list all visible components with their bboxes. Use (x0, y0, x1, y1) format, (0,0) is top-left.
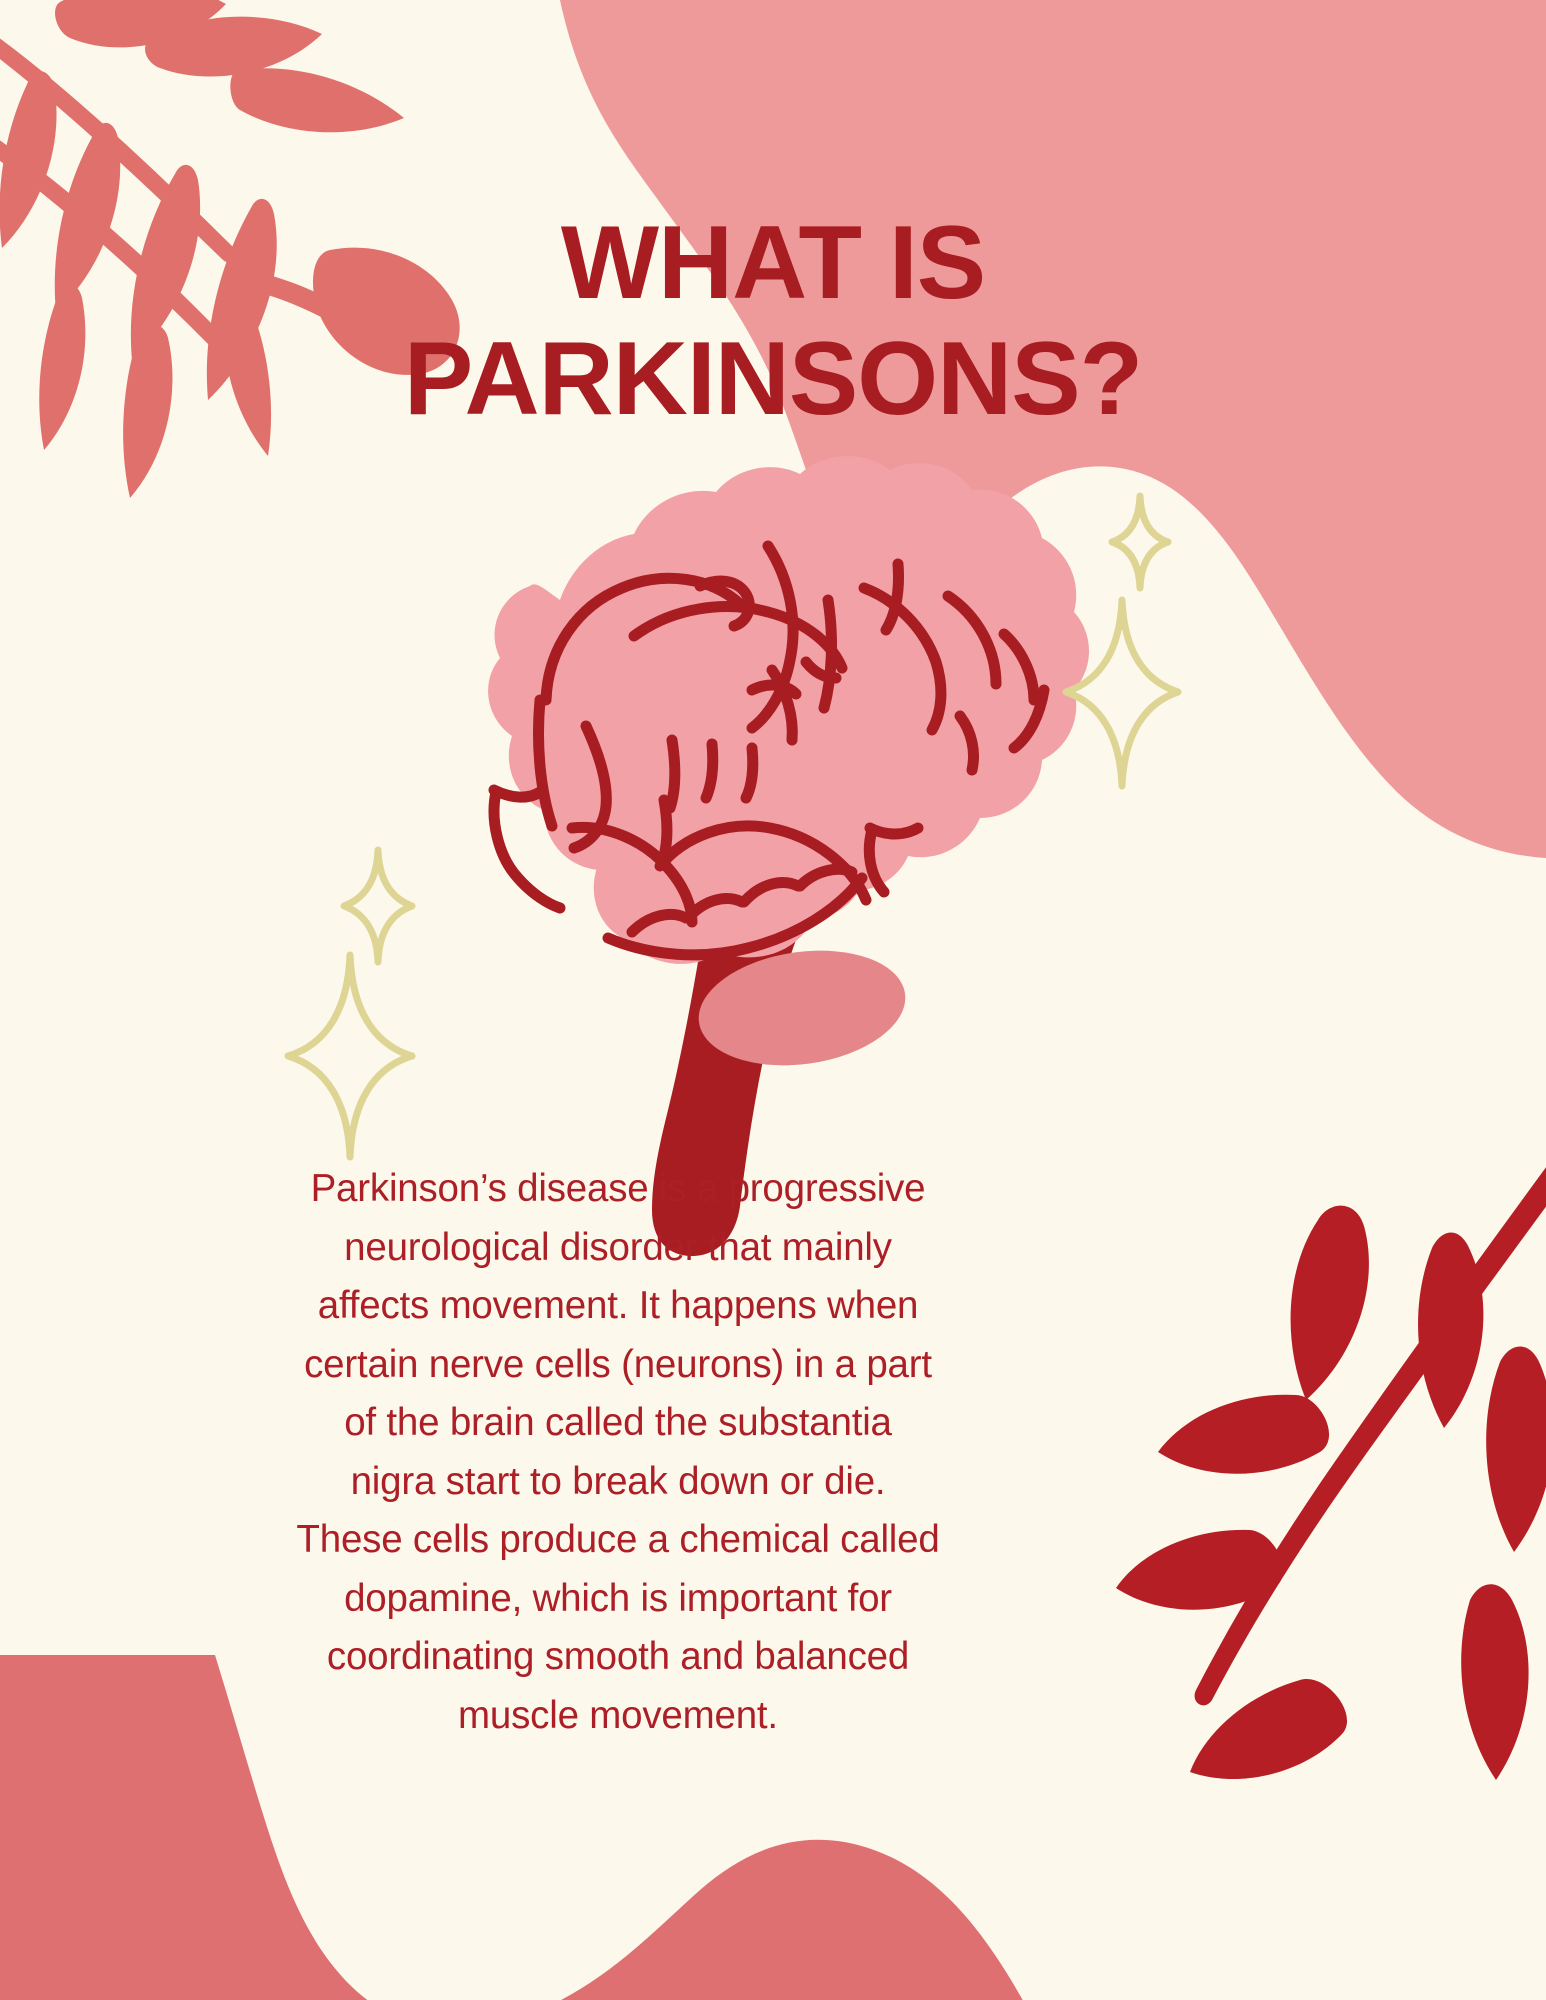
page-title: WHAT IS PARKINSONS? (0, 205, 1546, 438)
title-line-1: WHAT IS (0, 205, 1546, 321)
body-paragraph-block: Parkinson’s disease is a progressive neu… (273, 1160, 963, 1745)
body-paragraph: Parkinson’s disease is a progressive neu… (273, 1160, 963, 1745)
title-line-2: PARKINSONS? (0, 321, 1546, 437)
poster-canvas: WHAT IS PARKINSONS? Parkinson’s disease … (0, 0, 1546, 2000)
